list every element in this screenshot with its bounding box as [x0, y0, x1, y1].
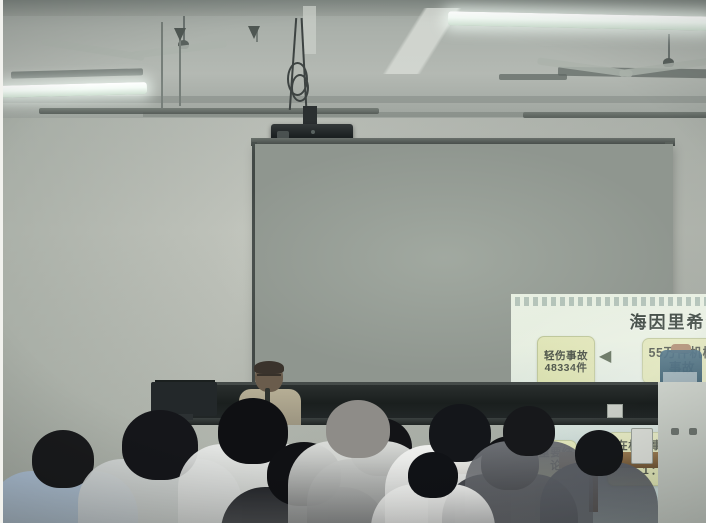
audience-head	[575, 430, 623, 476]
wall-outlet[interactable]	[607, 404, 623, 418]
water-bottle-label	[663, 372, 697, 382]
fan-rod	[668, 34, 670, 60]
projector-cable-loop	[291, 74, 309, 102]
audience-head	[326, 400, 390, 458]
ceiling-rail	[39, 108, 379, 114]
audience-head	[503, 406, 555, 456]
slide-title: 海因里希法则的提出	[511, 308, 706, 333]
light-fixture-housing	[499, 74, 567, 80]
hanger-cone	[248, 26, 260, 39]
projector-indicator-led	[311, 130, 315, 134]
slide-box-minor-injury: 轻伤事故48334件	[537, 336, 595, 388]
dispenser-tap[interactable]	[671, 428, 679, 435]
slide-decorative-band	[515, 297, 706, 306]
ceiling-vertical-beam	[303, 6, 316, 54]
hanger-cone	[174, 28, 186, 41]
ceiling-crossbeam	[3, 96, 706, 103]
light-fixture-housing	[11, 68, 143, 78]
lecturer-glasses-icon	[257, 374, 281, 382]
water-dispenser[interactable]	[658, 382, 706, 523]
arrow-left-icon: ◀	[599, 346, 611, 366]
hanger-rod	[161, 22, 163, 108]
fan-blade	[41, 38, 145, 61]
projector-mount	[303, 106, 317, 126]
audience-head	[408, 452, 458, 498]
lecture-room-photo: 海因里希法则的提出 轻伤事故48334件 ◀ 55万件机械事故 ▶ 其余则为无伤…	[0, 0, 706, 523]
lecturer-hair	[254, 361, 284, 374]
wall-switch-panel[interactable]	[631, 428, 653, 464]
dispenser-tap[interactable]	[689, 428, 697, 435]
projection-screen: 海因里希法则的提出 轻伤事故48334件 ◀ 55万件机械事故 ▶ 其余则为无伤…	[255, 144, 673, 398]
